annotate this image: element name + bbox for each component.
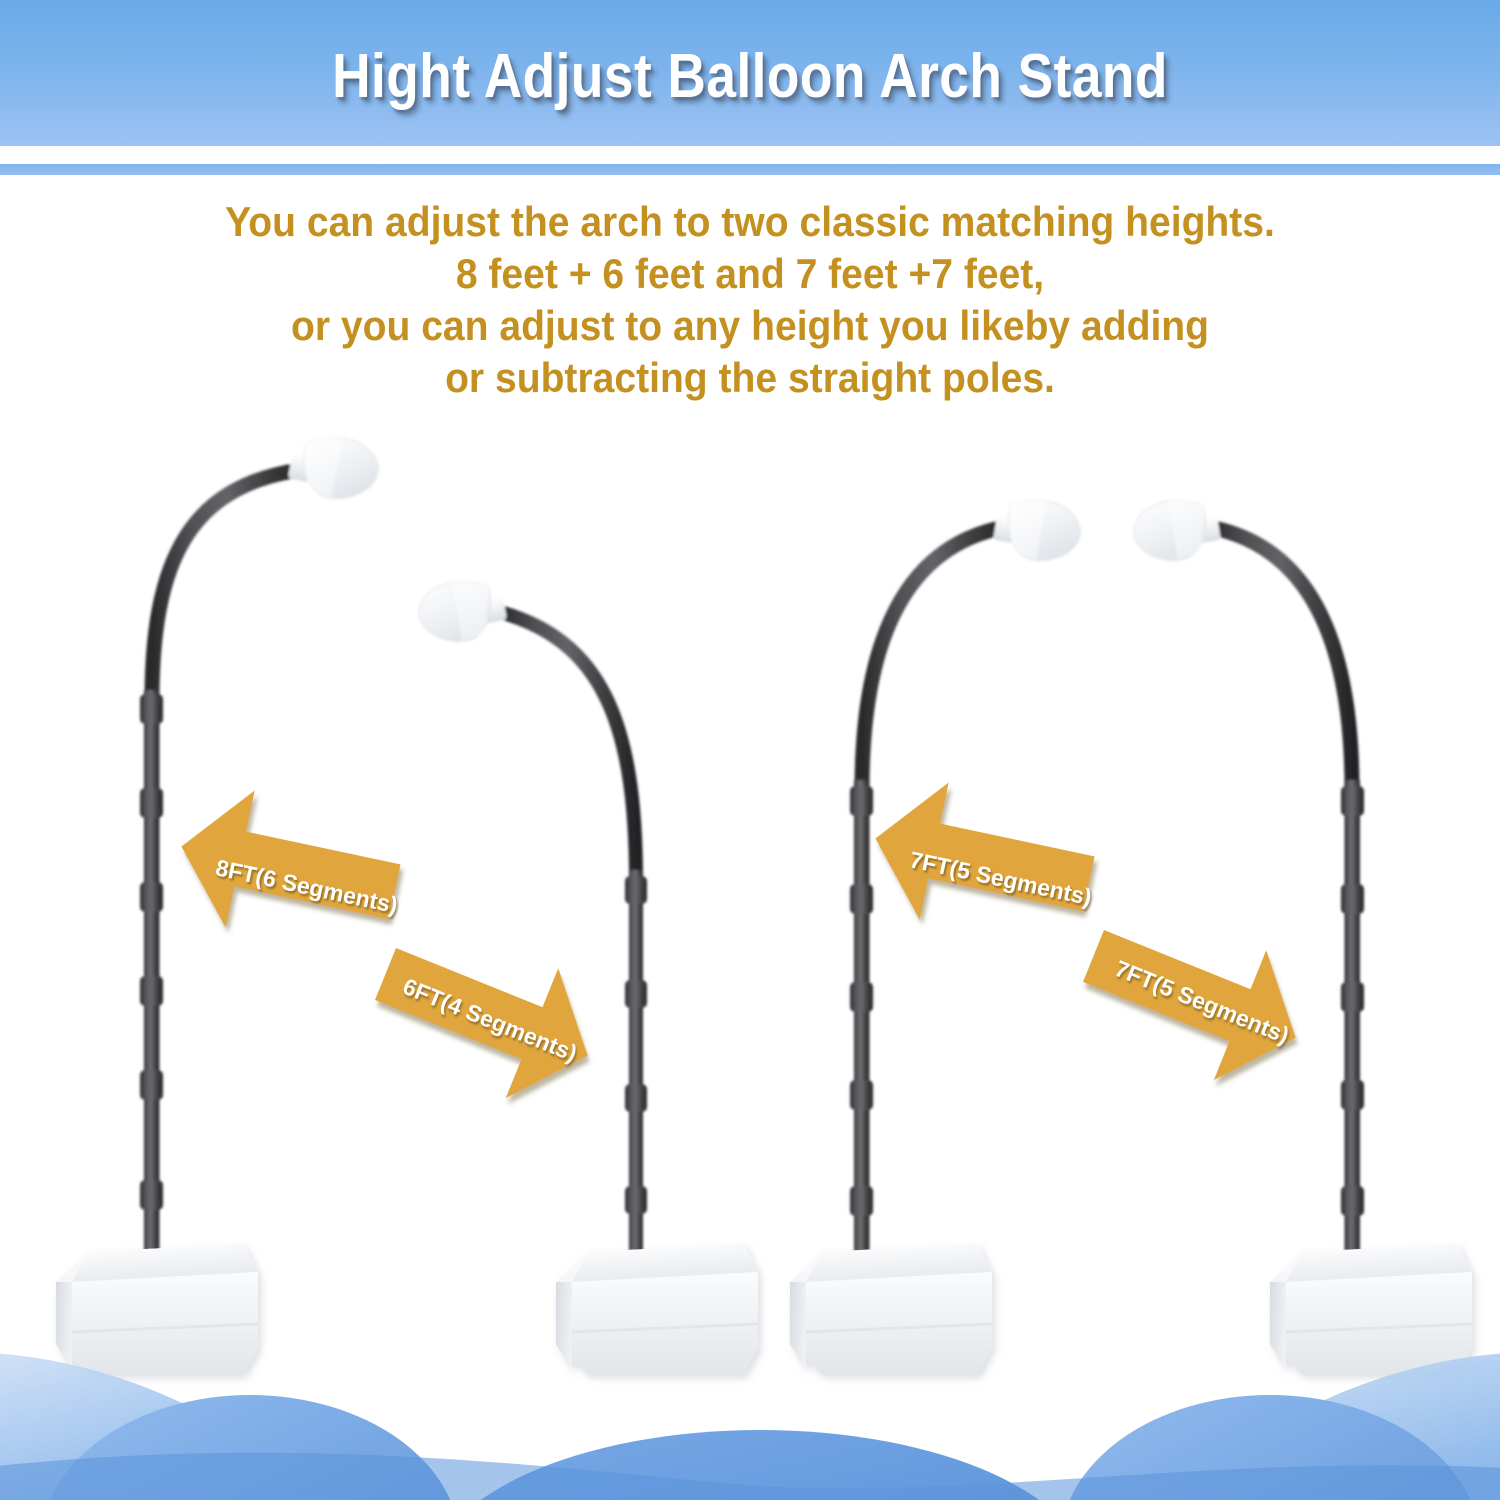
- cup-assembly-7ft-right: [1134, 491, 1221, 561]
- arrow-8ft: [167, 778, 409, 960]
- cup-assembly-6ft: [419, 572, 508, 642]
- infographic-canvas: Hight Adjust Balloon Arch Stand You can …: [0, 0, 1500, 1500]
- base-block-8ft: [56, 1244, 258, 1374]
- cup-assembly-8ft: [288, 428, 379, 499]
- balloon-arch-stands-illustration: [0, 0, 1500, 1500]
- stand-7ft-right: [1134, 491, 1364, 1258]
- base-block-7ft-left: [790, 1244, 992, 1374]
- arrow-7ft-right: [1067, 891, 1322, 1102]
- cup-assembly-7ft-left: [993, 491, 1080, 561]
- stand-6ft: [419, 572, 647, 1258]
- footer-waves: [0, 1352, 1500, 1500]
- arrow-6ft: [359, 909, 614, 1120]
- base-block-7ft-right: [1270, 1244, 1472, 1374]
- base-block-6ft: [556, 1244, 758, 1374]
- arrow-7ft-left: [861, 770, 1103, 952]
